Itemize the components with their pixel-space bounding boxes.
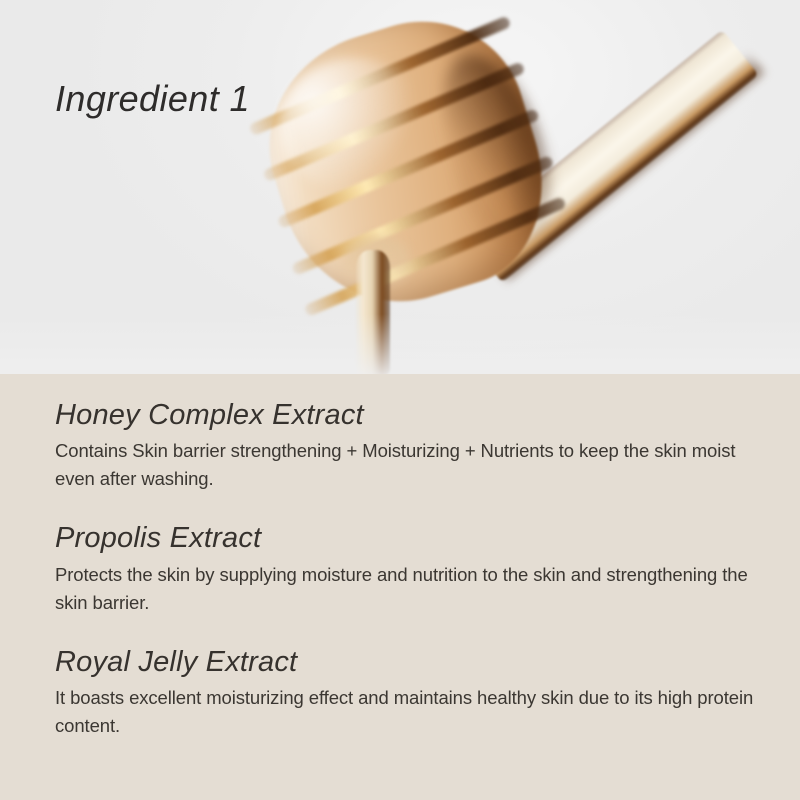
page-title: Ingredient 1 [55,78,250,120]
ingredient-info-page: Ingredient 1 Honey Complex Extract Conta… [0,0,800,800]
ingredient-body: It boasts excellent moisturizing effect … [55,684,755,740]
ingredient-section: Honey Complex Extract Contains Skin barr… [55,398,755,493]
ingredient-body: Contains Skin barrier strengthening + Mo… [55,437,755,493]
ingredient-description-panel: Honey Complex Extract Contains Skin barr… [0,374,800,800]
ingredient-title: Propolis Extract [55,521,755,555]
hero-bottom-fade [0,314,800,374]
ingredient-body: Protects the skin by supplying moisture … [55,561,755,617]
hero-photo: Ingredient 1 [0,0,800,374]
ingredient-section: Royal Jelly Extract It boasts excellent … [55,645,755,740]
ingredient-title: Royal Jelly Extract [55,645,755,679]
ingredient-title: Honey Complex Extract [55,398,755,432]
ingredient-section: Propolis Extract Protects the skin by su… [55,521,755,616]
